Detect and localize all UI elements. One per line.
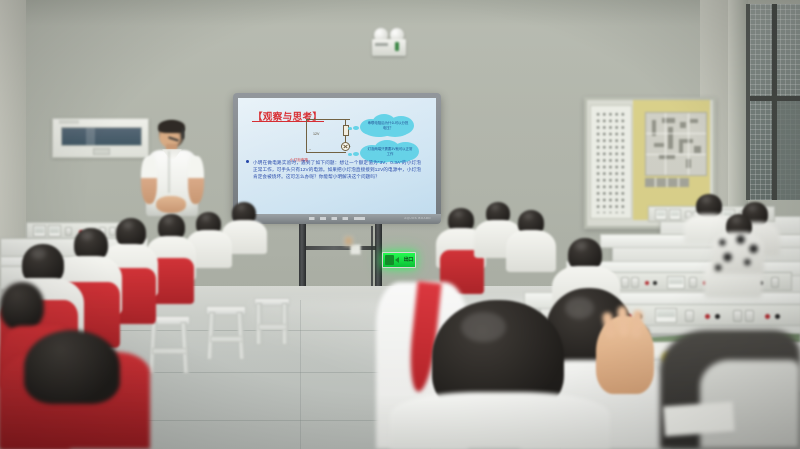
slide-bullet xyxy=(246,160,249,163)
panel-tag xyxy=(59,120,79,124)
teacher-arm-right xyxy=(188,156,204,204)
screened-window xyxy=(746,4,800,200)
slide-body-text: 小明在做电路实验时，遇到了如下问题：想让一个额定值为“3V、0.3A”的小灯泡正… xyxy=(253,159,421,181)
exit-sign-text: 出口 xyxy=(404,256,413,263)
window-pane-lower xyxy=(777,101,800,200)
running-man-icon xyxy=(385,255,394,265)
arrow-right-icon xyxy=(395,257,399,263)
exit-sign: 出口 xyxy=(382,252,416,268)
panel-latch[interactable] xyxy=(93,148,110,155)
circuit-plus: + xyxy=(309,115,311,119)
student-fg-left-head xyxy=(24,330,120,404)
emergency-light-indicator xyxy=(395,42,399,51)
smartboard-buttons[interactable] xyxy=(309,217,365,220)
emergency-light-body xyxy=(372,39,406,56)
smartboard-control-bar[interactable]: SHARP AQUOS BOARD xyxy=(233,214,441,224)
student-torso-m3 xyxy=(506,230,556,272)
panel-window xyxy=(61,127,142,146)
teacher-placket xyxy=(168,151,170,193)
classroom-photo: 【观察与思考】 + − 12V R L 小灯泡电路 xyxy=(0,0,800,449)
wall-distribution-box[interactable] xyxy=(52,118,149,158)
student-fg-torso-center xyxy=(390,392,610,449)
circuit-layout-poster xyxy=(645,112,707,176)
student-head-l7 xyxy=(0,282,44,330)
callout-text-2: 灯泡两端只需要3V就可以正常工作 xyxy=(358,147,422,156)
desk-paper[interactable] xyxy=(663,402,735,437)
window-jamb xyxy=(728,0,748,210)
circuit-diagram: + − 12V R L xyxy=(300,115,360,157)
stand-crossbar xyxy=(306,246,376,250)
smartboard-brand-right: AQUOS BOARD xyxy=(404,216,431,220)
emergency-light-label xyxy=(375,43,388,46)
callout-text-1: 串联电阻后为什么可以分担电压？ xyxy=(358,121,418,130)
teacher-arm-left xyxy=(141,156,157,204)
smartboard-screen[interactable]: 【观察与思考】 + − 12V R L 小灯泡电路 xyxy=(238,98,436,214)
twin-head-emergency-light xyxy=(372,28,406,56)
lamp-label: L xyxy=(349,144,351,148)
ceiling-shadow xyxy=(0,0,800,26)
callout-bubble-1: 串联电阻后为什么可以分担电压？ xyxy=(358,113,418,138)
interactive-smartboard[interactable]: 【观察与思考】 + − 12V R L 小灯泡电路 xyxy=(233,93,441,219)
wall-hook xyxy=(344,236,353,246)
teacher-hair xyxy=(158,120,185,133)
pegboard xyxy=(590,105,632,219)
source-voltage-label: 12V xyxy=(313,132,319,136)
student-torso-r4-patterned xyxy=(712,232,764,274)
headset-band xyxy=(182,128,184,139)
circuit-minus: − xyxy=(309,148,311,152)
poster-legend xyxy=(645,178,689,187)
teacher-hands xyxy=(156,196,186,213)
pegboard-holes xyxy=(595,111,627,213)
